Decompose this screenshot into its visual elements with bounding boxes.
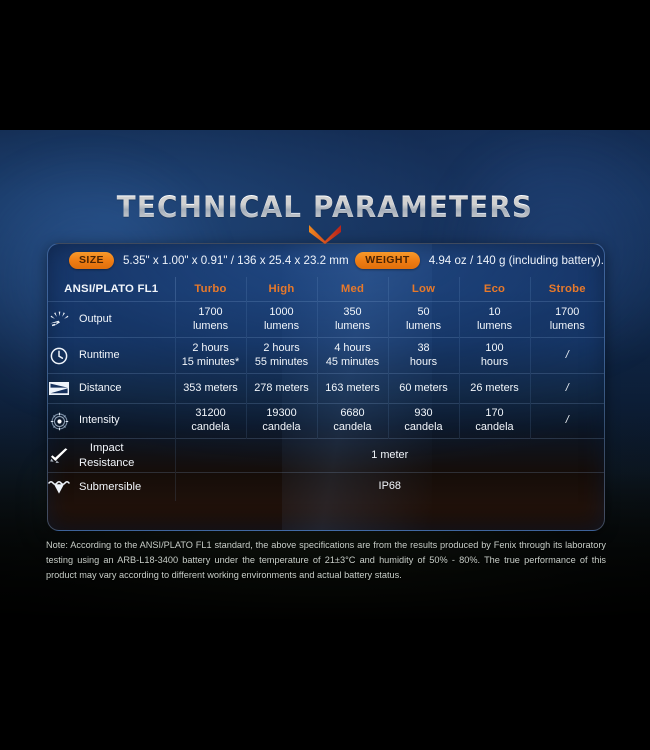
specs-panel: SIZE 5.35" x 1.00" x 0.91" / 136 x 25.4 … <box>47 243 605 531</box>
size-value: 5.35" x 1.00" x 0.91" / 136 x 25.4 x 23.… <box>123 254 349 267</box>
cell-output-eco: 10 lumens <box>459 302 530 338</box>
cell-output-low: 50 lumens <box>388 302 459 338</box>
table-row-runtime: Runtime 2 hours 15 minutes* 2 hours 55 m… <box>48 338 604 374</box>
impact-check-icon <box>48 446 70 466</box>
header-strobe: Strobe <box>530 277 604 302</box>
row-label-runtime: Runtime <box>48 338 175 374</box>
table-header-row: ANSI/PLATO FL1 Turbo High Med Low Eco St… <box>48 277 604 302</box>
row-label-text: Distance <box>79 382 121 396</box>
intensity-target-icon <box>48 411 70 431</box>
cell-output-turbo: 1700 lumens <box>175 302 246 338</box>
beam-distance-icon <box>48 379 70 399</box>
cell-intensity-low: 930 candela <box>388 404 459 439</box>
cell-output-strobe: 1700 lumens <box>530 302 604 338</box>
page-title: TECHNICAL PARAMETERS <box>117 190 533 224</box>
header-med: Med <box>317 277 388 302</box>
weight-value: 4.94 oz / 140 g (including battery). <box>429 254 604 267</box>
header-ansi-plato: ANSI/PLATO FL1 <box>48 277 175 302</box>
cell-runtime-low: 38 hours <box>388 338 459 374</box>
clock-icon <box>48 346 70 366</box>
cell-distance-turbo: 353 meters <box>175 374 246 404</box>
cell-distance-low: 60 meters <box>388 374 459 404</box>
cell-runtime-strobe: / <box>530 338 604 374</box>
row-label-distance: Distance <box>48 374 175 404</box>
cell-distance-eco: 26 meters <box>459 374 530 404</box>
footnote: Note: According to the ANSI/PLATO FL1 st… <box>46 538 606 583</box>
table-row-submersible: Submersible IP68 <box>48 473 604 502</box>
cell-intensity-strobe: / <box>530 404 604 439</box>
row-label-text: Output <box>79 313 112 327</box>
row-label-output: Output <box>48 302 175 338</box>
row-label-text: Intensity <box>79 414 120 428</box>
cell-runtime-med: 4 hours 45 minutes <box>317 338 388 374</box>
cell-submersible-value: IP68 <box>175 473 604 502</box>
cell-distance-high: 278 meters <box>246 374 317 404</box>
cell-distance-med: 163 meters <box>317 374 388 404</box>
cell-output-med: 350 lumens <box>317 302 388 338</box>
table-row-intensity: Intensity 31200 candela 19300 candela 66… <box>48 404 604 439</box>
cell-intensity-high: 19300 candela <box>246 404 317 439</box>
table-row-distance: Distance 353 meters 278 meters 163 meter… <box>48 374 604 404</box>
submersible-icon <box>48 477 70 497</box>
table-row-output: Output 1700 lumens 1000 lumens 350 lumen… <box>48 302 604 338</box>
header-turbo: Turbo <box>175 277 246 302</box>
weight-badge: WEIGHT <box>355 252 419 269</box>
row-label-text: Runtime <box>79 349 120 363</box>
size-badge: SIZE <box>69 252 114 269</box>
header-high: High <box>246 277 317 302</box>
table-row-impact-resistance: Impact Resistance 1 meter <box>48 439 604 473</box>
light-rays-icon <box>48 310 70 330</box>
cell-runtime-high: 2 hours 55 minutes <box>246 338 317 374</box>
cell-impact-resistance-value: 1 meter <box>175 439 604 473</box>
cell-intensity-eco: 170 candela <box>459 404 530 439</box>
specifications-table: ANSI/PLATO FL1 Turbo High Med Low Eco St… <box>48 277 604 501</box>
cell-runtime-eco: 100 hours <box>459 338 530 374</box>
row-label-impact-resistance: Impact Resistance <box>48 439 175 473</box>
cell-intensity-med: 6680 candela <box>317 404 388 439</box>
header-low: Low <box>388 277 459 302</box>
cell-runtime-turbo: 2 hours 15 minutes* <box>175 338 246 374</box>
row-label-text: Impact Resistance <box>79 441 134 470</box>
row-label-intensity: Intensity <box>48 404 175 439</box>
cell-distance-strobe: / <box>530 374 604 404</box>
row-label-submersible: Submersible <box>48 473 175 502</box>
cell-output-high: 1000 lumens <box>246 302 317 338</box>
row-label-text: Submersible <box>79 480 141 494</box>
page-title-container: TECHNICAL PARAMETERS <box>0 190 650 224</box>
chevron-down-icon <box>0 224 650 249</box>
screenshot-root: TECHNICAL PARAMETERS SIZE 5.35" x 1.00" … <box>0 0 650 750</box>
header-eco: Eco <box>459 277 530 302</box>
cell-intensity-turbo: 31200 candela <box>175 404 246 439</box>
